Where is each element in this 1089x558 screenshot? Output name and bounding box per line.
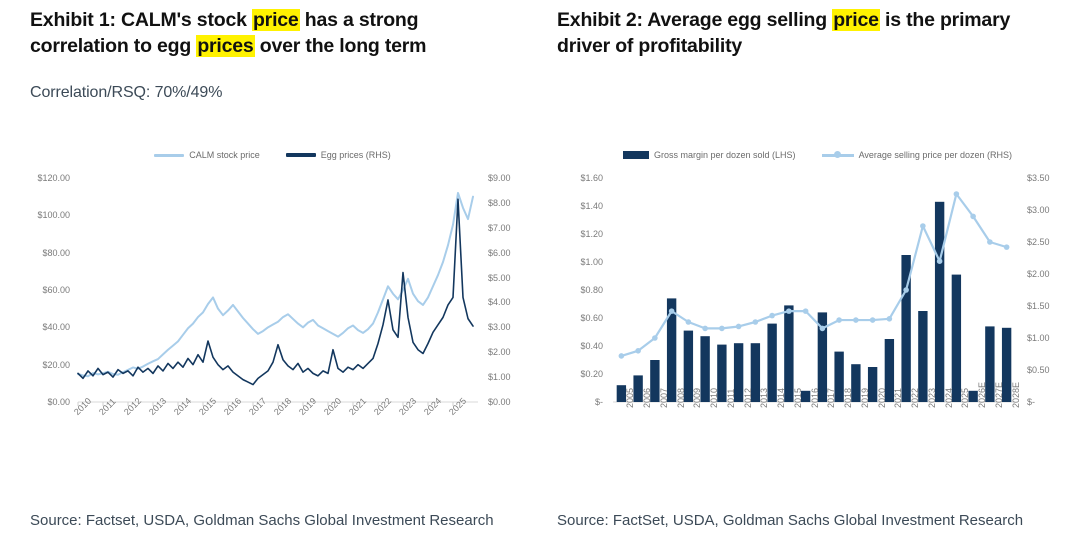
y-axis-tick-label: $1.20 <box>547 230 603 239</box>
y-axis-tick-label: $0.00 <box>8 398 70 407</box>
legend-label: Egg prices (RHS) <box>321 150 391 160</box>
x-axis-tick-label: 2009 <box>692 388 702 408</box>
exhibit-1-plot: $0.00$20.00$40.00$60.00$80.00$100.00$120… <box>0 170 545 460</box>
y-axis-tick-label: $0.60 <box>547 314 603 323</box>
legend-label: Average selling price per dozen (RHS) <box>859 150 1012 160</box>
series-marker <box>635 348 641 354</box>
legend-swatch-bar-navy <box>623 151 649 159</box>
y2-axis-tick-label: $9.00 <box>488 174 548 183</box>
y-axis-tick-label: $0.20 <box>547 370 603 379</box>
y2-axis-tick-label: $6.00 <box>488 249 548 258</box>
y-axis-tick-label: $80.00 <box>8 249 70 258</box>
x-axis-tick-label: 2013 <box>759 388 769 408</box>
y-axis-tick-label: $0.40 <box>547 342 603 351</box>
y-axis-tick-label: $100.00 <box>8 211 70 220</box>
exhibit-2-title: Exhibit 2: Average egg selling price is … <box>557 8 1067 59</box>
x-axis-tick-label: 2015 <box>793 388 803 408</box>
x-axis-tick-label: 2005 <box>625 388 635 408</box>
x-axis-tick-label: 2024 <box>944 388 954 408</box>
exhibit-2-panel: Exhibit 2: Average egg selling price is … <box>545 0 1089 558</box>
series-marker <box>987 239 993 245</box>
bar <box>952 275 961 402</box>
legend-swatch-marker-light <box>822 153 854 157</box>
x-axis-tick-label: 2020 <box>877 388 887 408</box>
y-axis-tick-label: $- <box>547 398 603 407</box>
x-axis-tick-label: 2006 <box>642 388 652 408</box>
series-marker <box>903 287 909 293</box>
y2-axis-tick-label: $3.50 <box>1027 174 1087 183</box>
y-axis-tick-label: $1.00 <box>547 258 603 267</box>
title-text: Exhibit 2: Average egg selling <box>557 9 832 31</box>
x-axis-tick-label: 2028E <box>1011 382 1021 408</box>
y2-axis-tick-label: $1.00 <box>488 373 548 382</box>
y2-axis-tick-label: $5.00 <box>488 274 548 283</box>
legend-item-calm-stock-price: CALM stock price <box>154 150 260 160</box>
series-marker <box>820 326 826 332</box>
series-marker <box>736 324 742 330</box>
x-axis-tick-label: 2007 <box>659 388 669 408</box>
series-marker <box>970 214 976 220</box>
series-marker <box>920 223 926 229</box>
title-highlight: prices <box>196 35 254 57</box>
series-marker <box>937 258 943 264</box>
series-marker <box>719 326 725 332</box>
legend-label: CALM stock price <box>189 150 260 160</box>
x-axis-tick-label: 2012 <box>743 388 753 408</box>
series-line <box>621 194 1006 356</box>
y2-axis-tick-label: $- <box>1027 398 1087 407</box>
x-axis-tick-label: 2027E <box>994 382 1004 408</box>
y2-axis-tick-label: $1.00 <box>1027 334 1087 343</box>
series-marker <box>853 317 859 323</box>
x-axis-tick-label: 2023 <box>927 388 937 408</box>
series-marker <box>753 319 759 325</box>
legend-item-avg-selling-price: Average selling price per dozen (RHS) <box>822 150 1012 160</box>
legend-swatch-line-navy <box>286 153 316 157</box>
exhibit-2-plot: $-$0.20$0.40$0.60$0.80$1.00$1.20$1.40$1.… <box>545 170 1089 460</box>
y2-axis-tick-label: $4.00 <box>488 298 548 307</box>
exhibit-2-svg <box>545 170 1089 460</box>
x-axis-tick-label: 2019 <box>860 388 870 408</box>
series-marker <box>769 313 775 319</box>
y2-axis-tick-label: $7.00 <box>488 224 548 233</box>
y2-axis-tick-label: $2.00 <box>1027 270 1087 279</box>
series-marker <box>887 316 893 322</box>
y2-axis-tick-label: $0.50 <box>1027 366 1087 375</box>
x-axis-tick-label: 2011 <box>726 389 736 408</box>
y-axis-tick-label: $0.80 <box>547 286 603 295</box>
y2-axis-tick-label: $3.00 <box>1027 206 1087 215</box>
series-marker <box>786 308 792 314</box>
series-marker <box>803 308 809 314</box>
series-marker <box>619 353 625 359</box>
x-axis-tick-label: 2021 <box>893 388 903 408</box>
x-axis-tick-label: 2010 <box>709 388 719 408</box>
series-marker <box>954 191 960 197</box>
exhibit-2-legend: Gross margin per dozen sold (LHS) Averag… <box>545 150 1089 160</box>
y-axis-tick-label: $40.00 <box>8 323 70 332</box>
legend-swatch-line-light <box>154 154 184 157</box>
x-axis-tick-label: 2014 <box>776 388 786 408</box>
y2-axis-tick-label: $1.50 <box>1027 302 1087 311</box>
y2-axis-tick-label: $3.00 <box>488 323 548 332</box>
series-line <box>78 193 473 376</box>
x-axis-tick-label: 2025 <box>960 388 970 408</box>
series-marker <box>652 335 658 341</box>
legend-label: Gross margin per dozen sold (LHS) <box>654 150 796 160</box>
title-text: over the long term <box>255 35 427 57</box>
exhibit-1-panel: Exhibit 1: CALM's stock price has a stro… <box>0 0 545 558</box>
series-marker <box>702 326 708 332</box>
bar <box>935 202 944 402</box>
exhibit-2-source: Source: FactSet, USDA, Goldman Sachs Glo… <box>557 511 1057 530</box>
exhibit-1-source: Source: Factset, USDA, Goldman Sachs Glo… <box>30 511 530 530</box>
y-axis-tick-label: $1.40 <box>547 202 603 211</box>
title-text: Exhibit 1: CALM's stock <box>30 9 252 31</box>
series-marker <box>870 317 876 323</box>
legend-item-egg-prices: Egg prices (RHS) <box>286 150 391 160</box>
y-axis-tick-label: $120.00 <box>8 174 70 183</box>
series-marker <box>686 319 692 325</box>
exhibit-1-svg <box>0 170 545 460</box>
series-marker <box>669 308 675 314</box>
series-line <box>78 199 473 384</box>
x-axis-tick-label: 2008 <box>676 388 686 408</box>
x-axis-tick-label: 2022 <box>910 388 920 408</box>
exhibit-1-legend: CALM stock price Egg prices (RHS) <box>0 150 545 160</box>
y-axis-tick-label: $60.00 <box>8 286 70 295</box>
legend-item-gross-margin: Gross margin per dozen sold (LHS) <box>623 150 796 160</box>
y2-axis-tick-label: $2.00 <box>488 348 548 357</box>
exhibit-1-subtitle: Correlation/RSQ: 70%/49% <box>30 84 222 102</box>
title-highlight: price <box>832 9 880 31</box>
exhibit-page: Exhibit 1: CALM's stock price has a stro… <box>0 0 1089 558</box>
series-marker <box>1004 244 1010 250</box>
y2-axis-tick-label: $8.00 <box>488 199 548 208</box>
x-axis-tick-label: 2018 <box>843 388 853 408</box>
y2-axis-tick-label: $2.50 <box>1027 238 1087 247</box>
title-highlight: price <box>252 9 300 31</box>
x-axis-tick-label: 2016 <box>810 388 820 408</box>
y-axis-tick-label: $1.60 <box>547 174 603 183</box>
exhibit-1-title: Exhibit 1: CALM's stock price has a stro… <box>30 8 520 59</box>
y2-axis-tick-label: $0.00 <box>488 398 548 407</box>
x-axis-tick-label: 2026E <box>977 382 987 408</box>
x-axis-tick-label: 2017 <box>826 388 836 408</box>
y-axis-tick-label: $20.00 <box>8 361 70 370</box>
series-marker <box>836 317 842 323</box>
